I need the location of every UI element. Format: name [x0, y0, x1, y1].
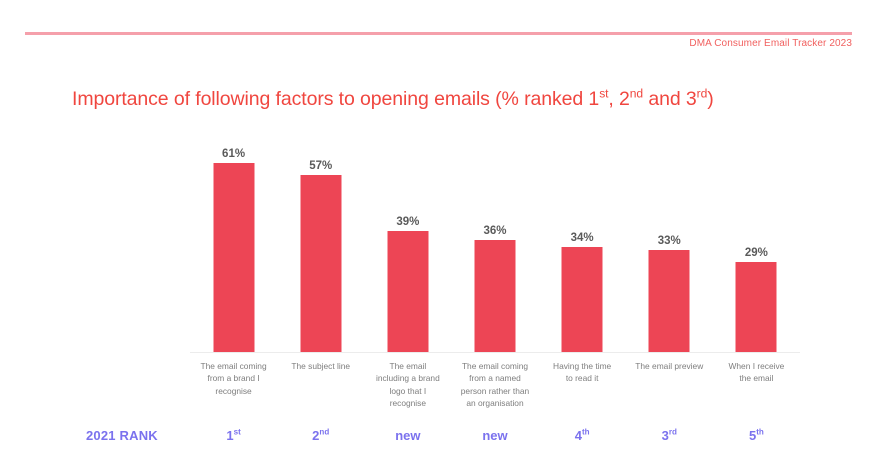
category-label: Having the timeto read it: [539, 360, 626, 422]
category-label-line: the email: [715, 372, 798, 384]
category-label-line: to read it: [541, 372, 624, 384]
rank-value-number: new: [482, 428, 507, 443]
bar-value-label: 57%: [309, 160, 332, 172]
bar-value-label: 34%: [571, 232, 594, 244]
rank-value: new: [364, 428, 451, 443]
chart-title-suffix: ): [707, 88, 713, 110]
category-label-line: The subject line: [279, 360, 362, 372]
bar[interactable]: [387, 231, 428, 352]
rank-value: 4th: [539, 428, 626, 443]
chart-baseline-axis: [190, 352, 800, 353]
bar-value-label: 61%: [222, 148, 245, 160]
slide-canvas: DMA Consumer Email Tracker 2023 Importan…: [0, 0, 889, 470]
category-label: When I receivethe email: [713, 360, 800, 422]
bar[interactable]: [474, 240, 515, 352]
category-label-line: The email coming: [453, 360, 536, 372]
category-label-line: from a brand I: [192, 372, 275, 384]
rank-value: 2nd: [277, 428, 364, 443]
category-label: The subject line: [277, 360, 364, 422]
rank-value-number: new: [395, 428, 420, 443]
bar-slot: 61%: [190, 135, 277, 352]
bar-slot: 33%: [626, 135, 713, 352]
bar-slot: 39%: [364, 135, 451, 352]
bar-value-label: 29%: [745, 247, 768, 259]
header-divider-rule: [25, 32, 852, 35]
rank-value-ordinal-suffix: th: [756, 428, 764, 437]
chart-title-ordinal-2nd: nd: [630, 87, 643, 101]
bar-slot: 29%: [713, 135, 800, 352]
rank-value-ordinal-suffix: rd: [669, 428, 677, 437]
bar-value-label: 36%: [483, 225, 506, 237]
bar-series: 61%57%39%36%34%33%29%: [190, 135, 800, 352]
rank-value-number: 4: [575, 428, 582, 443]
category-label-line: person rather than: [453, 385, 536, 397]
category-label-line: from a named: [453, 372, 536, 384]
category-label: The email comingfrom a brand Irecognise: [190, 360, 277, 422]
bar-chart-plot-area: 61%57%39%36%34%33%29%: [190, 135, 800, 353]
chart-title-ordinal-3rd: rd: [697, 87, 708, 101]
rank-value-number: 3: [662, 428, 669, 443]
category-label-line: logo that I: [366, 385, 449, 397]
category-label-line: recognise: [192, 385, 275, 397]
category-label-line: an organisation: [453, 397, 536, 409]
category-label-line: including a brand: [366, 372, 449, 384]
rank-value-ordinal-suffix: st: [234, 428, 241, 437]
category-label-line: The email preview: [628, 360, 711, 372]
category-label: The email comingfrom a namedperson rathe…: [451, 360, 538, 422]
category-label-line: The email: [366, 360, 449, 372]
category-label-line: Having the time: [541, 360, 624, 372]
bar[interactable]: [736, 262, 777, 352]
rank-value-ordinal-suffix: th: [582, 428, 590, 437]
category-label: The email preview: [626, 360, 713, 422]
rank-value-ordinal-suffix: nd: [319, 428, 329, 437]
rank-row-title: 2021 RANK: [86, 428, 158, 443]
tracker-source-label: DMA Consumer Email Tracker 2023: [689, 38, 852, 49]
category-axis-labels: The email comingfrom a brand IrecogniseT…: [190, 360, 800, 422]
chart-title: Importance of following factors to openi…: [72, 88, 714, 111]
bar[interactable]: [300, 175, 341, 352]
category-label: The emailincluding a brandlogo that Irec…: [364, 360, 451, 422]
rank-value: 1st: [190, 428, 277, 443]
category-label-line: recognise: [366, 397, 449, 409]
bar-slot: 36%: [451, 135, 538, 352]
chart-title-ordinal-1st: st: [599, 87, 608, 101]
rank-value: 3rd: [626, 428, 713, 443]
bar-value-label: 33%: [658, 235, 681, 247]
rank-values: 1st2ndnewnew4th3rd5th: [190, 428, 800, 443]
rank-value: new: [451, 428, 538, 443]
bar[interactable]: [649, 250, 690, 352]
rank-value-number: 1: [226, 428, 233, 443]
bar[interactable]: [562, 247, 603, 352]
chart-title-prefix: Importance of following factors to openi…: [72, 88, 599, 110]
bar-value-label: 39%: [396, 216, 419, 228]
chart-title-mid-1: , 2: [608, 88, 629, 110]
category-label-line: When I receive: [715, 360, 798, 372]
rank-row: 2021 RANK 1st2ndnewnew4th3rd5th: [0, 428, 889, 452]
chart-title-mid-2: and 3: [643, 88, 697, 110]
rank-value: 5th: [713, 428, 800, 443]
bar-slot: 34%: [539, 135, 626, 352]
bar[interactable]: [213, 163, 254, 352]
bar-slot: 57%: [277, 135, 364, 352]
category-label-line: The email coming: [192, 360, 275, 372]
